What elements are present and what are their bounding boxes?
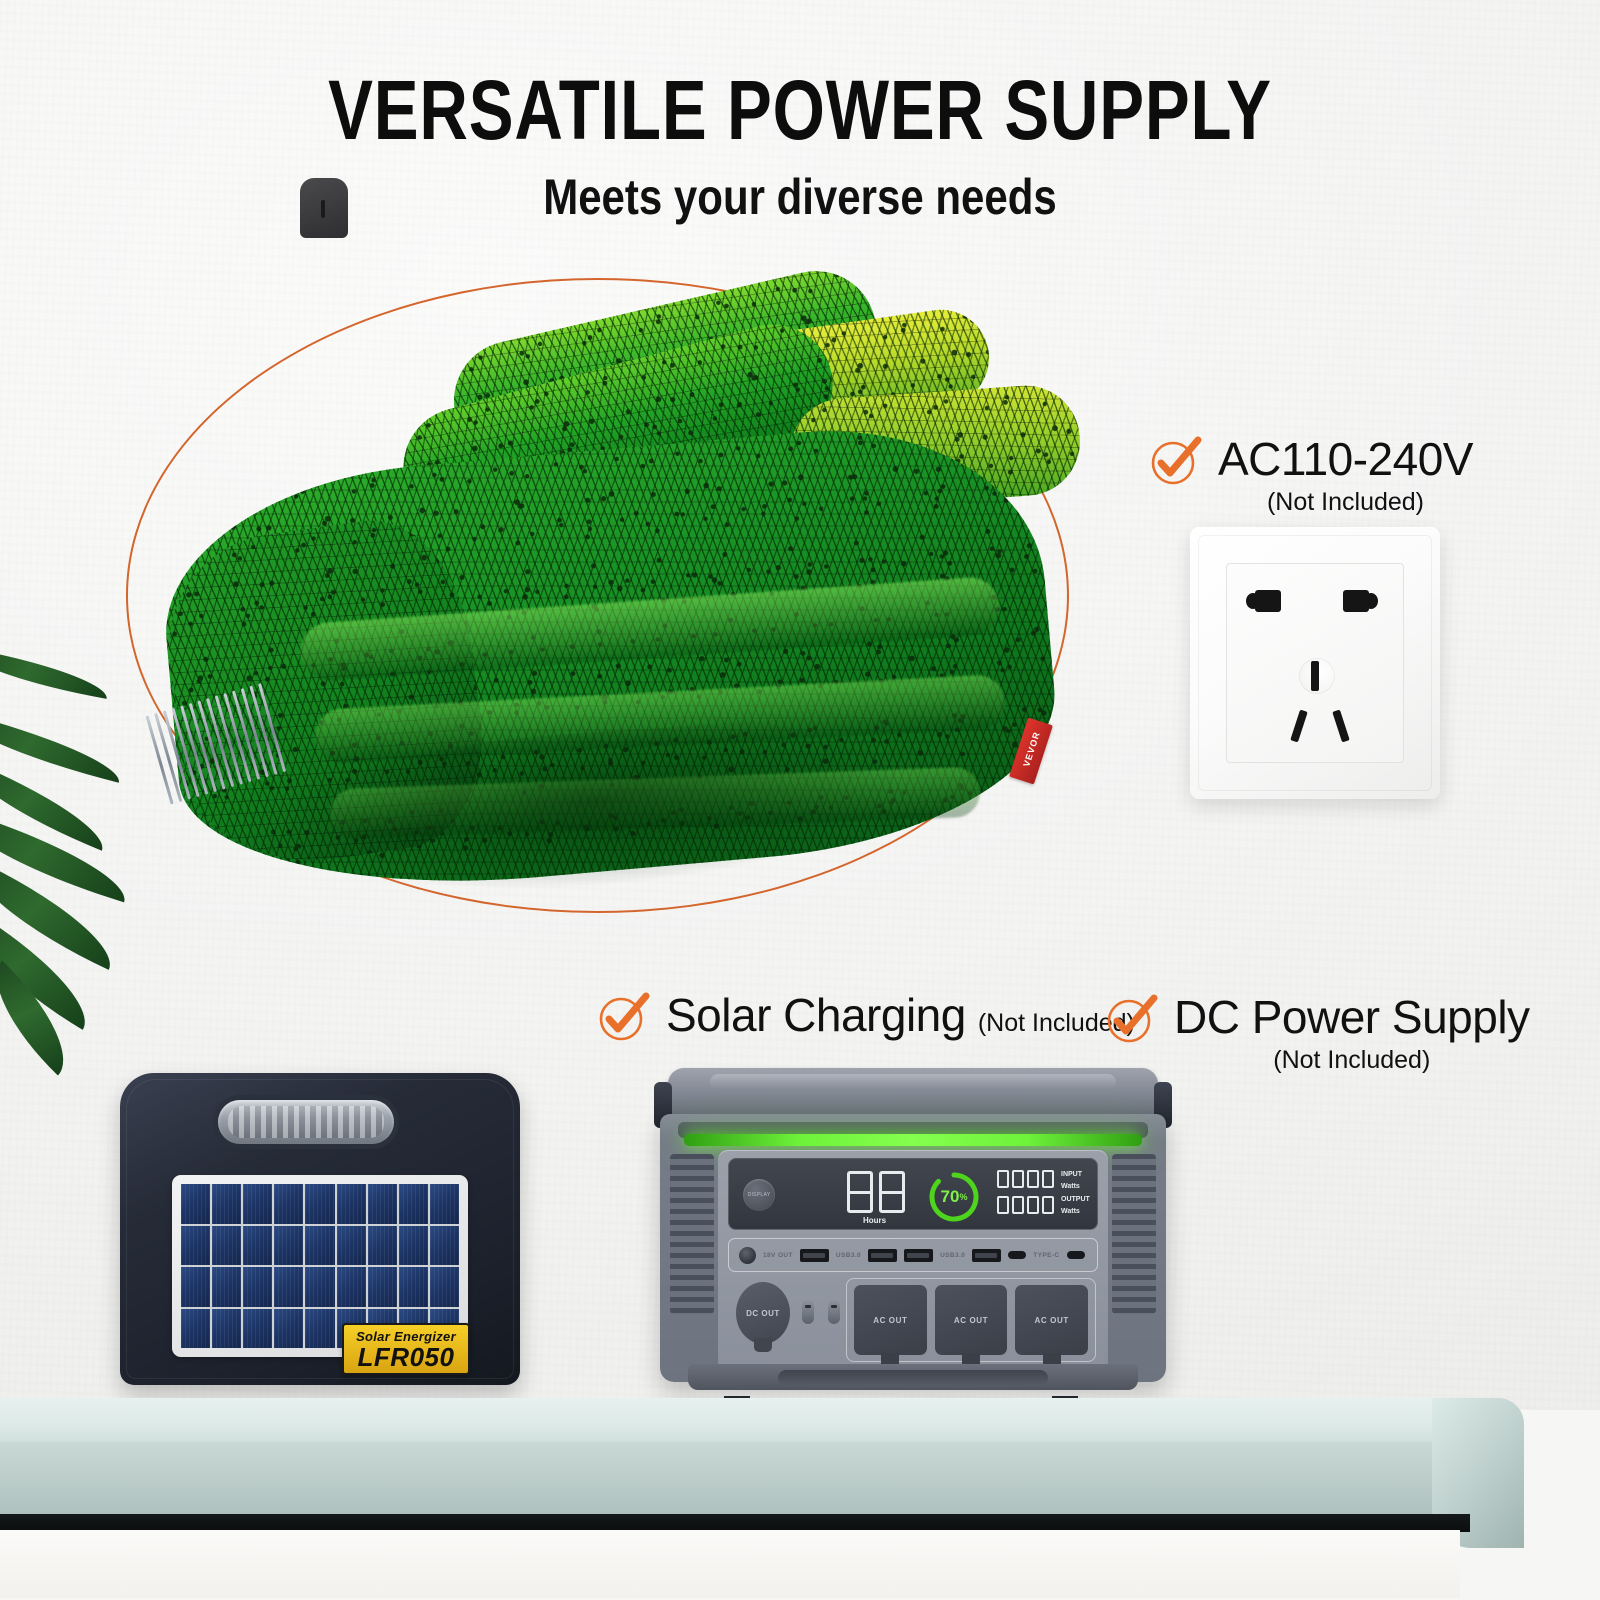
feature-dc-power-supply: DC Power Supply (Not Included) bbox=[1104, 990, 1530, 1075]
cabinet-door[interactable] bbox=[0, 1530, 1460, 1598]
usb-port-3[interactable] bbox=[904, 1249, 933, 1262]
lcd-battery-gauge: 70% bbox=[925, 1168, 983, 1226]
outlet-slot-center bbox=[1311, 661, 1319, 691]
lcd-output-label: OUTPUT bbox=[1061, 1196, 1090, 1204]
feature-label: DC Power Supply bbox=[1174, 990, 1530, 1044]
lcd-input-label: INPUT bbox=[1061, 1171, 1090, 1179]
check-circle-icon bbox=[1148, 434, 1202, 488]
lcd-io-indicators: INPUT Watts OUTPUT Watts bbox=[997, 1170, 1090, 1216]
type-c-port-1[interactable] bbox=[1008, 1251, 1026, 1259]
outlet-slot-bottom-right bbox=[1332, 710, 1349, 743]
lcd-hours-digits bbox=[847, 1171, 905, 1213]
dc-out-socket[interactable]: DC OUT bbox=[736, 1282, 790, 1344]
station-front-face: DISPLAY Hours 70% bbox=[718, 1150, 1108, 1372]
outlet-slot-top-right bbox=[1343, 590, 1369, 612]
type-c-port-2[interactable] bbox=[1067, 1251, 1085, 1259]
usb-port-2[interactable] bbox=[868, 1249, 897, 1262]
outlet-slot-top-left bbox=[1255, 590, 1281, 612]
feature-ac110-240v: AC110-240V (Not Included) bbox=[1148, 432, 1473, 517]
ac-out-socket-2[interactable]: AC OUT bbox=[935, 1285, 1008, 1355]
lcd-output-unit: Watts bbox=[1061, 1208, 1090, 1216]
ac-out-socket-1[interactable]: AC OUT bbox=[854, 1285, 927, 1355]
kitchen-countertop bbox=[0, 1398, 1600, 1600]
type-c-label: TYPE-C bbox=[1033, 1252, 1059, 1259]
power-switch-2[interactable] bbox=[828, 1300, 840, 1324]
station-vent-left bbox=[670, 1154, 714, 1314]
usb-label-2: USB3.0 bbox=[940, 1252, 965, 1259]
feature-note: (Not Included) bbox=[1273, 1046, 1430, 1075]
check-circle-icon bbox=[1104, 992, 1158, 1046]
lcd-output-digits bbox=[997, 1196, 1054, 1214]
page-title: VERSATILE POWER SUPPLY bbox=[160, 62, 1440, 159]
usb-port-1[interactable] bbox=[800, 1249, 829, 1262]
feature-solar-charging: Solar Charging (Not Included) bbox=[596, 988, 1135, 1044]
outlet-slot-bottom-left bbox=[1290, 710, 1307, 743]
dc-jack-port[interactable] bbox=[739, 1247, 756, 1264]
portable-power-station[interactable]: DISPLAY Hours 70% bbox=[648, 1068, 1178, 1398]
lcd-input-unit: Watts bbox=[1061, 1183, 1090, 1191]
solar-energizer-model-label: Solar Energizer LFR050 bbox=[342, 1323, 470, 1375]
scene-root: VERSATILE POWER SUPPLY Meets your divers… bbox=[0, 0, 1600, 1600]
station-led-strip bbox=[684, 1134, 1142, 1146]
solar-unit-handle[interactable] bbox=[218, 1100, 394, 1144]
ac-out-socket-3[interactable]: AC OUT bbox=[1015, 1285, 1088, 1355]
usb-port-4[interactable] bbox=[972, 1249, 1001, 1262]
ac-outlet-group: AC OUT AC OUT AC OUT bbox=[846, 1278, 1096, 1362]
check-circle-icon bbox=[596, 990, 650, 1044]
wall-outlet-face bbox=[1226, 563, 1404, 763]
station-vent-right bbox=[1112, 1154, 1156, 1314]
dc-jack-label: 18V OUT bbox=[763, 1252, 793, 1259]
lcd-hours-label: Hours bbox=[863, 1216, 886, 1225]
usb-label-1: USB3.0 bbox=[836, 1252, 861, 1259]
station-outlet-row: DC OUT AC OUT AC OUT AC OUT bbox=[728, 1278, 1098, 1364]
station-body: DISPLAY Hours 70% bbox=[660, 1114, 1166, 1382]
counter-top-surface bbox=[0, 1398, 1490, 1446]
solar-energizer-unit[interactable]: Solar Energizer LFR050 bbox=[120, 1055, 520, 1385]
lcd-input-digits bbox=[997, 1170, 1054, 1188]
power-switch-1[interactable] bbox=[802, 1300, 814, 1324]
station-lcd-display: DISPLAY Hours 70% bbox=[728, 1158, 1098, 1230]
station-base-recess bbox=[778, 1370, 1048, 1386]
hero-product-image: VEVOR bbox=[150, 300, 1050, 900]
display-button[interactable]: DISPLAY bbox=[743, 1179, 775, 1211]
solar-label-line2: LFR050 bbox=[358, 1344, 455, 1370]
lcd-battery-percent: 70% bbox=[925, 1168, 983, 1226]
potted-plant bbox=[0, 660, 150, 1080]
feature-note: (Not Included) bbox=[1267, 488, 1424, 517]
counter-front-edge bbox=[0, 1442, 1490, 1516]
feature-label: Solar Charging bbox=[666, 988, 966, 1042]
feature-label: AC110-240V bbox=[1218, 432, 1473, 486]
cabinet-handle[interactable] bbox=[300, 178, 348, 238]
wall-outlet[interactable] bbox=[1190, 527, 1440, 799]
station-port-row: 18V OUT USB3.0 USB3.0 TYPE-C bbox=[728, 1238, 1098, 1272]
